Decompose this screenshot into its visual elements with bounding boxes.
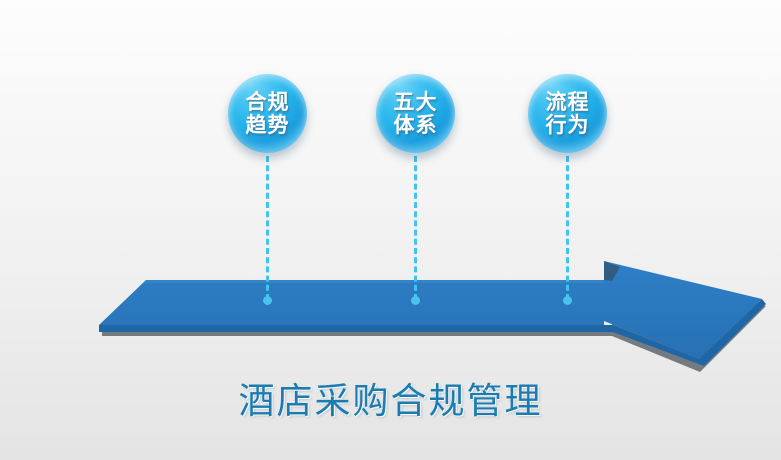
- connector-line-1: [266, 156, 269, 300]
- arrow-tip-edge: [699, 299, 766, 366]
- slide-title: 酒店采购合规管理: [0, 372, 781, 424]
- connector-line-3: [566, 156, 569, 300]
- bubble-3-line-2: 行为: [546, 114, 590, 137]
- slide-canvas: 合规 趋势 五大 体系 流程 行为 酒店采购合规管理: [0, 0, 781, 460]
- bubble-node-process-behavior[interactable]: 流程 行为: [528, 74, 607, 153]
- arrow-bottom-edge: [99, 325, 613, 332]
- bubble-2-line-1: 五大: [394, 91, 438, 114]
- arrow-head-bottom-edge: [613, 325, 704, 366]
- bubble-3-line-1: 流程: [546, 91, 590, 114]
- arrow-face: [99, 261, 762, 359]
- bubble-1-line-1: 合规: [246, 91, 290, 114]
- bubble-2-line-2: 体系: [394, 114, 438, 137]
- bubble-node-compliance-trend[interactable]: 合规 趋势: [228, 74, 307, 153]
- connector-dot-1: [263, 296, 272, 305]
- bubble-node-five-systems[interactable]: 五大 体系: [376, 74, 455, 153]
- arrow-barb-bevel: [604, 261, 620, 281]
- connector-line-2: [414, 156, 417, 300]
- arrow-depth-shadow: [102, 266, 766, 372]
- bubble-1-line-2: 趋势: [246, 114, 290, 137]
- connector-dot-3: [563, 296, 572, 305]
- connector-dot-2: [411, 296, 420, 305]
- arrow-top-highlight: [143, 280, 604, 283]
